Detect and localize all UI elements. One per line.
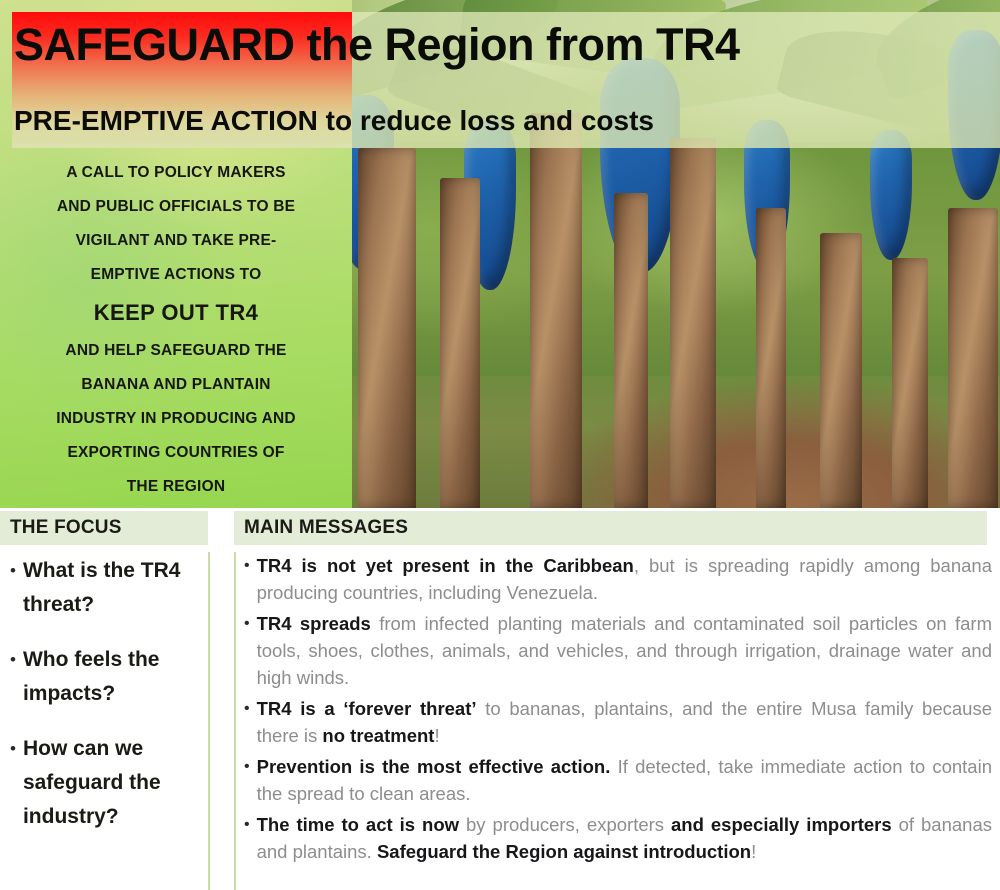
bullet-icon: • bbox=[244, 811, 250, 865]
list-item: •TR4 is not yet present in the Caribbean… bbox=[244, 552, 992, 606]
headline-strong: SAFEGUARD bbox=[14, 19, 295, 70]
message-run: ! bbox=[751, 841, 756, 862]
bullet-icon: • bbox=[244, 753, 250, 807]
subheadline-strong: PRE-EMPTIVE ACTION bbox=[14, 105, 318, 136]
list-item: •TR4 is a ‘forever threat’ to bananas, p… bbox=[244, 695, 992, 749]
banana-pseudostem-icon bbox=[670, 138, 716, 508]
list-item: • How can we safeguard the industry? bbox=[10, 732, 200, 834]
message-emphasis: Prevention is the most effective action. bbox=[257, 756, 611, 777]
message-run: by producers, exporters bbox=[459, 814, 671, 835]
list-item: •TR4 spreads from infected planting mate… bbox=[244, 610, 992, 691]
main-messages-section-heading: MAIN MESSAGES bbox=[234, 511, 987, 545]
banana-pseudostem-icon bbox=[892, 258, 928, 508]
message-run: ! bbox=[434, 725, 439, 746]
call-to-action-text: A CALL TO POLICY MAKERS AND PUBLIC OFFIC… bbox=[0, 148, 352, 504]
call-line-keep-out-tr4: KEEP OUT TR4 bbox=[16, 292, 336, 334]
banana-pseudostem-icon bbox=[948, 208, 998, 508]
banner: A CALL TO POLICY MAKERS AND PUBLIC OFFIC… bbox=[0, 0, 1000, 508]
list-item: • Who feels the impacts? bbox=[10, 643, 200, 711]
bullet-icon: • bbox=[10, 643, 16, 711]
message-emphasis: TR4 is not yet present in the Caribbean bbox=[257, 555, 634, 576]
focus-item-label: How can we safeguard the industry? bbox=[23, 732, 200, 834]
call-line: EMPTIVE ACTIONS TO bbox=[16, 258, 336, 292]
banana-pseudostem-icon bbox=[440, 178, 480, 508]
call-line: BANANA AND PLANTAIN bbox=[16, 368, 336, 402]
headline: SAFEGUARD the Region from TR4 bbox=[14, 22, 994, 67]
message-emphasis: TR4 is a ‘forever threat’ bbox=[257, 698, 477, 719]
message-emphasis: Safeguard the Region against introductio… bbox=[377, 841, 751, 862]
bullet-icon: • bbox=[244, 610, 250, 691]
call-line: A CALL TO POLICY MAKERS bbox=[16, 156, 336, 190]
banana-pseudostem-icon bbox=[756, 208, 786, 508]
bullet-icon: • bbox=[244, 552, 250, 606]
message-emphasis: The time to act is now bbox=[257, 814, 459, 835]
main-messages-list: •TR4 is not yet present in the Caribbean… bbox=[244, 552, 992, 869]
call-line: INDUSTRY IN PRODUCING AND bbox=[16, 402, 336, 436]
bullet-icon: • bbox=[244, 695, 250, 749]
message-emphasis: TR4 spreads bbox=[257, 613, 371, 634]
focus-item-label: Who feels the impacts? bbox=[23, 643, 200, 711]
call-line: AND HELP SAFEGUARD THE bbox=[16, 334, 336, 368]
list-item: •The time to act is now by producers, ex… bbox=[244, 811, 992, 865]
focus-list: • What is the TR4 threat? • Who feels th… bbox=[10, 554, 200, 855]
focus-section-heading: THE FOCUS bbox=[0, 511, 208, 545]
call-line: VIGILANT AND TAKE PRE- bbox=[16, 224, 336, 258]
list-item: • What is the TR4 threat? bbox=[10, 554, 200, 622]
column-divider-left bbox=[208, 552, 210, 890]
column-divider-right bbox=[234, 552, 236, 890]
message-text: TR4 is not yet present in the Caribbean,… bbox=[257, 552, 992, 606]
banana-pseudostem-icon bbox=[530, 113, 582, 508]
subheadline: PRE-EMPTIVE ACTION to reduce loss and co… bbox=[14, 107, 994, 135]
banana-pseudostem-icon bbox=[820, 233, 862, 508]
message-text: TR4 spreads from infected planting mater… bbox=[257, 610, 992, 691]
content-area: THE FOCUS MAIN MESSAGES • What is the TR… bbox=[0, 508, 1000, 890]
list-item: •Prevention is the most effective action… bbox=[244, 753, 992, 807]
bullet-icon: • bbox=[10, 554, 16, 622]
call-line: AND PUBLIC OFFICIALS TO BE bbox=[16, 190, 336, 224]
message-emphasis: no treatment bbox=[322, 725, 434, 746]
bullet-icon: • bbox=[10, 732, 16, 834]
banana-pseudostem-icon bbox=[614, 193, 648, 508]
message-text: The time to act is now by producers, exp… bbox=[257, 811, 992, 865]
message-text: Prevention is the most effective action.… bbox=[257, 753, 992, 807]
headline-rest: the Region from TR4 bbox=[295, 19, 740, 70]
call-line: THE REGION bbox=[16, 470, 336, 504]
banana-pseudostem-icon bbox=[358, 148, 416, 508]
subheadline-rest: to reduce loss and costs bbox=[318, 105, 654, 136]
message-text: TR4 is a ‘forever threat’ to bananas, pl… bbox=[257, 695, 992, 749]
focus-item-label: What is the TR4 threat? bbox=[23, 554, 200, 622]
call-line: EXPORTING COUNTRIES OF bbox=[16, 436, 336, 470]
message-emphasis: and especially importers bbox=[671, 814, 892, 835]
